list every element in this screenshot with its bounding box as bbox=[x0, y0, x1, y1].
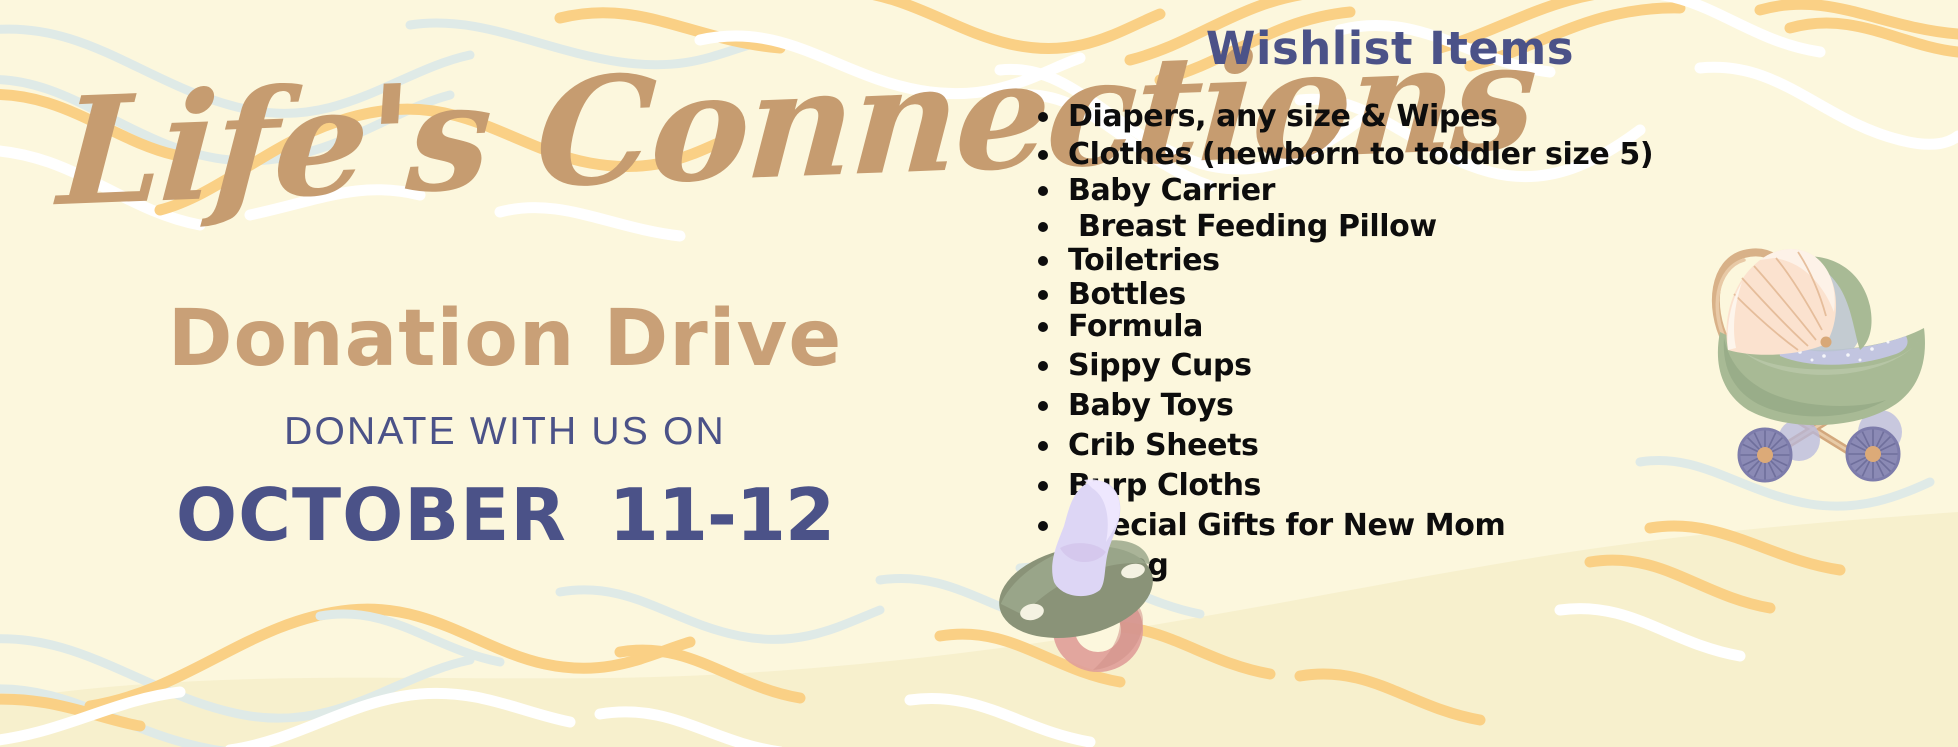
list-item: Sippy Cups bbox=[1022, 349, 1952, 383]
list-item-label: Formula bbox=[1068, 312, 1203, 342]
list-item-label: Baby Carrier bbox=[1068, 176, 1275, 206]
list-item: Diapers, any size & Wipes bbox=[1022, 100, 1952, 134]
list-item: Baby Toys bbox=[1022, 389, 1952, 423]
list-item: Bottles bbox=[1022, 278, 1952, 312]
list-item: Toiletries bbox=[1022, 244, 1952, 278]
list-item: Baby Carrier bbox=[1022, 174, 1952, 208]
bullet-icon bbox=[1038, 112, 1048, 122]
bullet-icon bbox=[1038, 186, 1048, 196]
left-content-panel: Life's Connections Donation Drive DONATE… bbox=[0, 0, 1010, 747]
list-item-label: Bottles bbox=[1068, 280, 1186, 310]
donate-callout-label: DONATE WITH US ON bbox=[0, 410, 1010, 454]
list-item-label: Crib Sheets bbox=[1068, 431, 1258, 461]
bullet-icon bbox=[1038, 322, 1048, 332]
list-item: Breast Feeding Pillow bbox=[1022, 210, 1952, 244]
list-item: Formula bbox=[1022, 310, 1952, 344]
list-item: Clothes (newborn to toddler size 5) bbox=[1022, 138, 1952, 172]
list-item-label: Clothes (newborn to toddler size 5) bbox=[1068, 140, 1653, 170]
pacifier-icon bbox=[988, 470, 1168, 680]
list-item-label: Toiletries bbox=[1068, 246, 1220, 276]
bullet-icon bbox=[1038, 401, 1048, 411]
event-date-days: 11-12 bbox=[609, 473, 834, 557]
list-item: Crib Sheets bbox=[1022, 429, 1952, 463]
wishlist-heading: Wishlist Items bbox=[1010, 22, 1770, 75]
bullet-icon bbox=[1038, 290, 1048, 300]
bullet-icon bbox=[1038, 150, 1048, 160]
page-title-script: Life's Connections bbox=[55, 42, 984, 226]
list-item-label: Sippy Cups bbox=[1068, 351, 1252, 381]
bullet-icon bbox=[1038, 222, 1048, 232]
list-item-label: Baby Toys bbox=[1068, 391, 1234, 421]
bullet-icon bbox=[1038, 256, 1048, 266]
donation-drive-banner: .wv { fill:none; stroke-linecap:round; }… bbox=[0, 0, 1958, 747]
list-item-label: Breast Feeding Pillow bbox=[1068, 212, 1437, 242]
list-item-label: Diapers, any size & Wipes bbox=[1068, 102, 1497, 132]
event-date: OCTOBER11-12 bbox=[0, 473, 1010, 557]
event-date-month: OCTOBER bbox=[176, 473, 567, 557]
page-subtitle: Donation Drive bbox=[0, 300, 1010, 378]
bullet-icon bbox=[1038, 361, 1048, 371]
bullet-icon bbox=[1038, 441, 1048, 451]
